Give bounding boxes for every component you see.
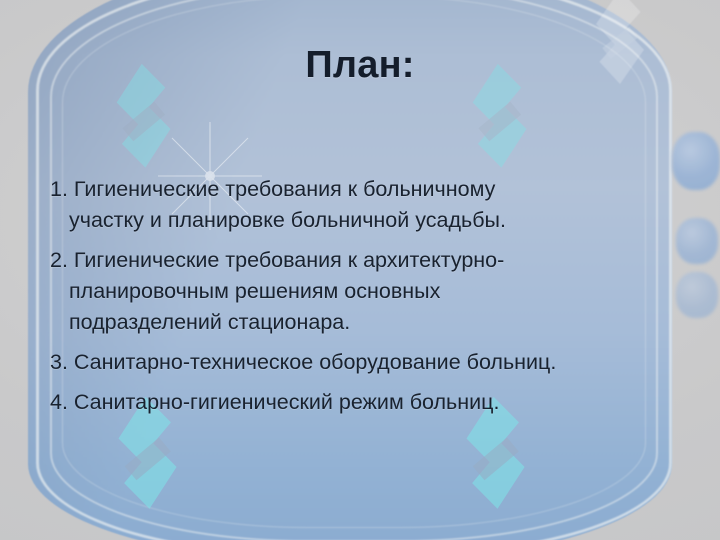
- agenda-item-3: 3. Санитарно-техническое оборудование бо…: [50, 347, 672, 378]
- slide-content: План: 1. Гигиенические требования к боль…: [0, 0, 720, 540]
- agenda-list: 1. Гигиенические требования к больничном…: [50, 174, 672, 418]
- slide-title: План:: [0, 44, 720, 87]
- agenda-item-1: 1. Гигиенические требования к больничном…: [50, 174, 672, 236]
- agenda-item-4: 4. Санитарно-гигиенический режим больниц…: [50, 387, 672, 418]
- agenda-item-2: 2. Гигиенические требования к архитектур…: [50, 245, 672, 338]
- presentation-slide: План: 1. Гигиенические требования к боль…: [0, 0, 720, 540]
